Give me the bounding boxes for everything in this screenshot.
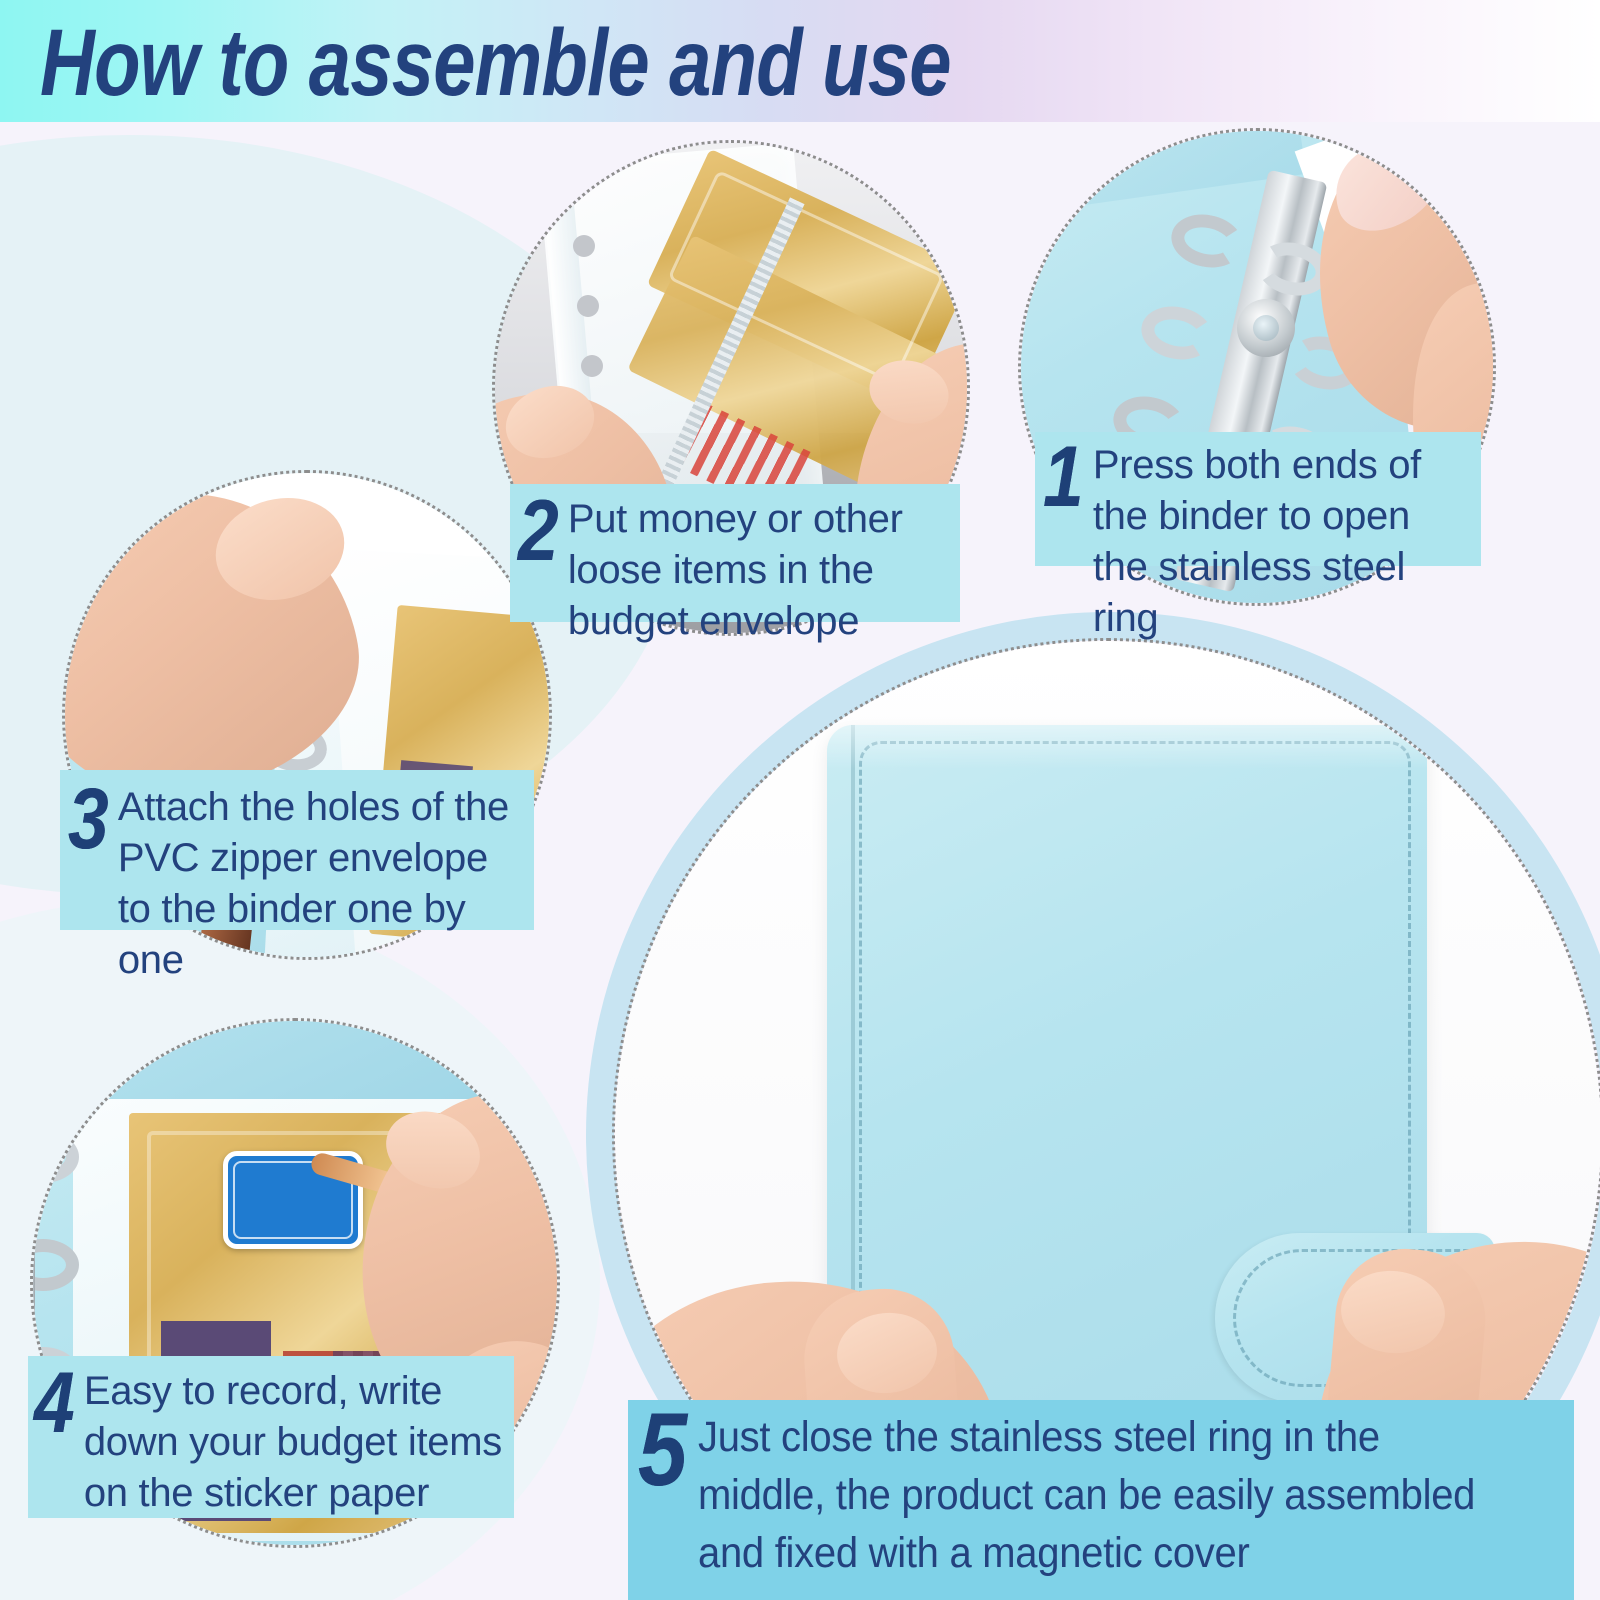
caption-step-5: 5 Just close the stainless steel ring in… <box>628 1400 1574 1600</box>
caption-step-4: 4 Easy to record, write down your budget… <box>28 1356 514 1518</box>
step-number-4: 4 <box>34 1366 75 1440</box>
caption-step-1: 1 Press both ends of the binder to open … <box>1035 432 1481 566</box>
step-number-3: 3 <box>68 782 109 856</box>
step-text-5: Just close the stainless steel ring in t… <box>698 1408 1498 1582</box>
step-text-3: Attach the holes of the PVC zipper envel… <box>118 782 524 986</box>
step-text-1: Press both ends of the binder to open th… <box>1093 440 1469 644</box>
page-title: How to assemble and use <box>40 8 951 118</box>
step-text-2: Put money or other loose items in the bu… <box>568 494 948 647</box>
step-number-5: 5 <box>638 1408 687 1492</box>
step-number-2: 2 <box>518 494 559 568</box>
infographic-canvas: How to assemble and use 1 <box>0 0 1600 1600</box>
caption-step-3: 3 Attach the holes of the PVC zipper env… <box>60 770 534 930</box>
step-number-1: 1 <box>1043 440 1084 514</box>
step-text-4: Easy to record, write down your budget i… <box>84 1366 504 1519</box>
caption-step-2: 2 Put money or other loose items in the … <box>510 484 960 622</box>
